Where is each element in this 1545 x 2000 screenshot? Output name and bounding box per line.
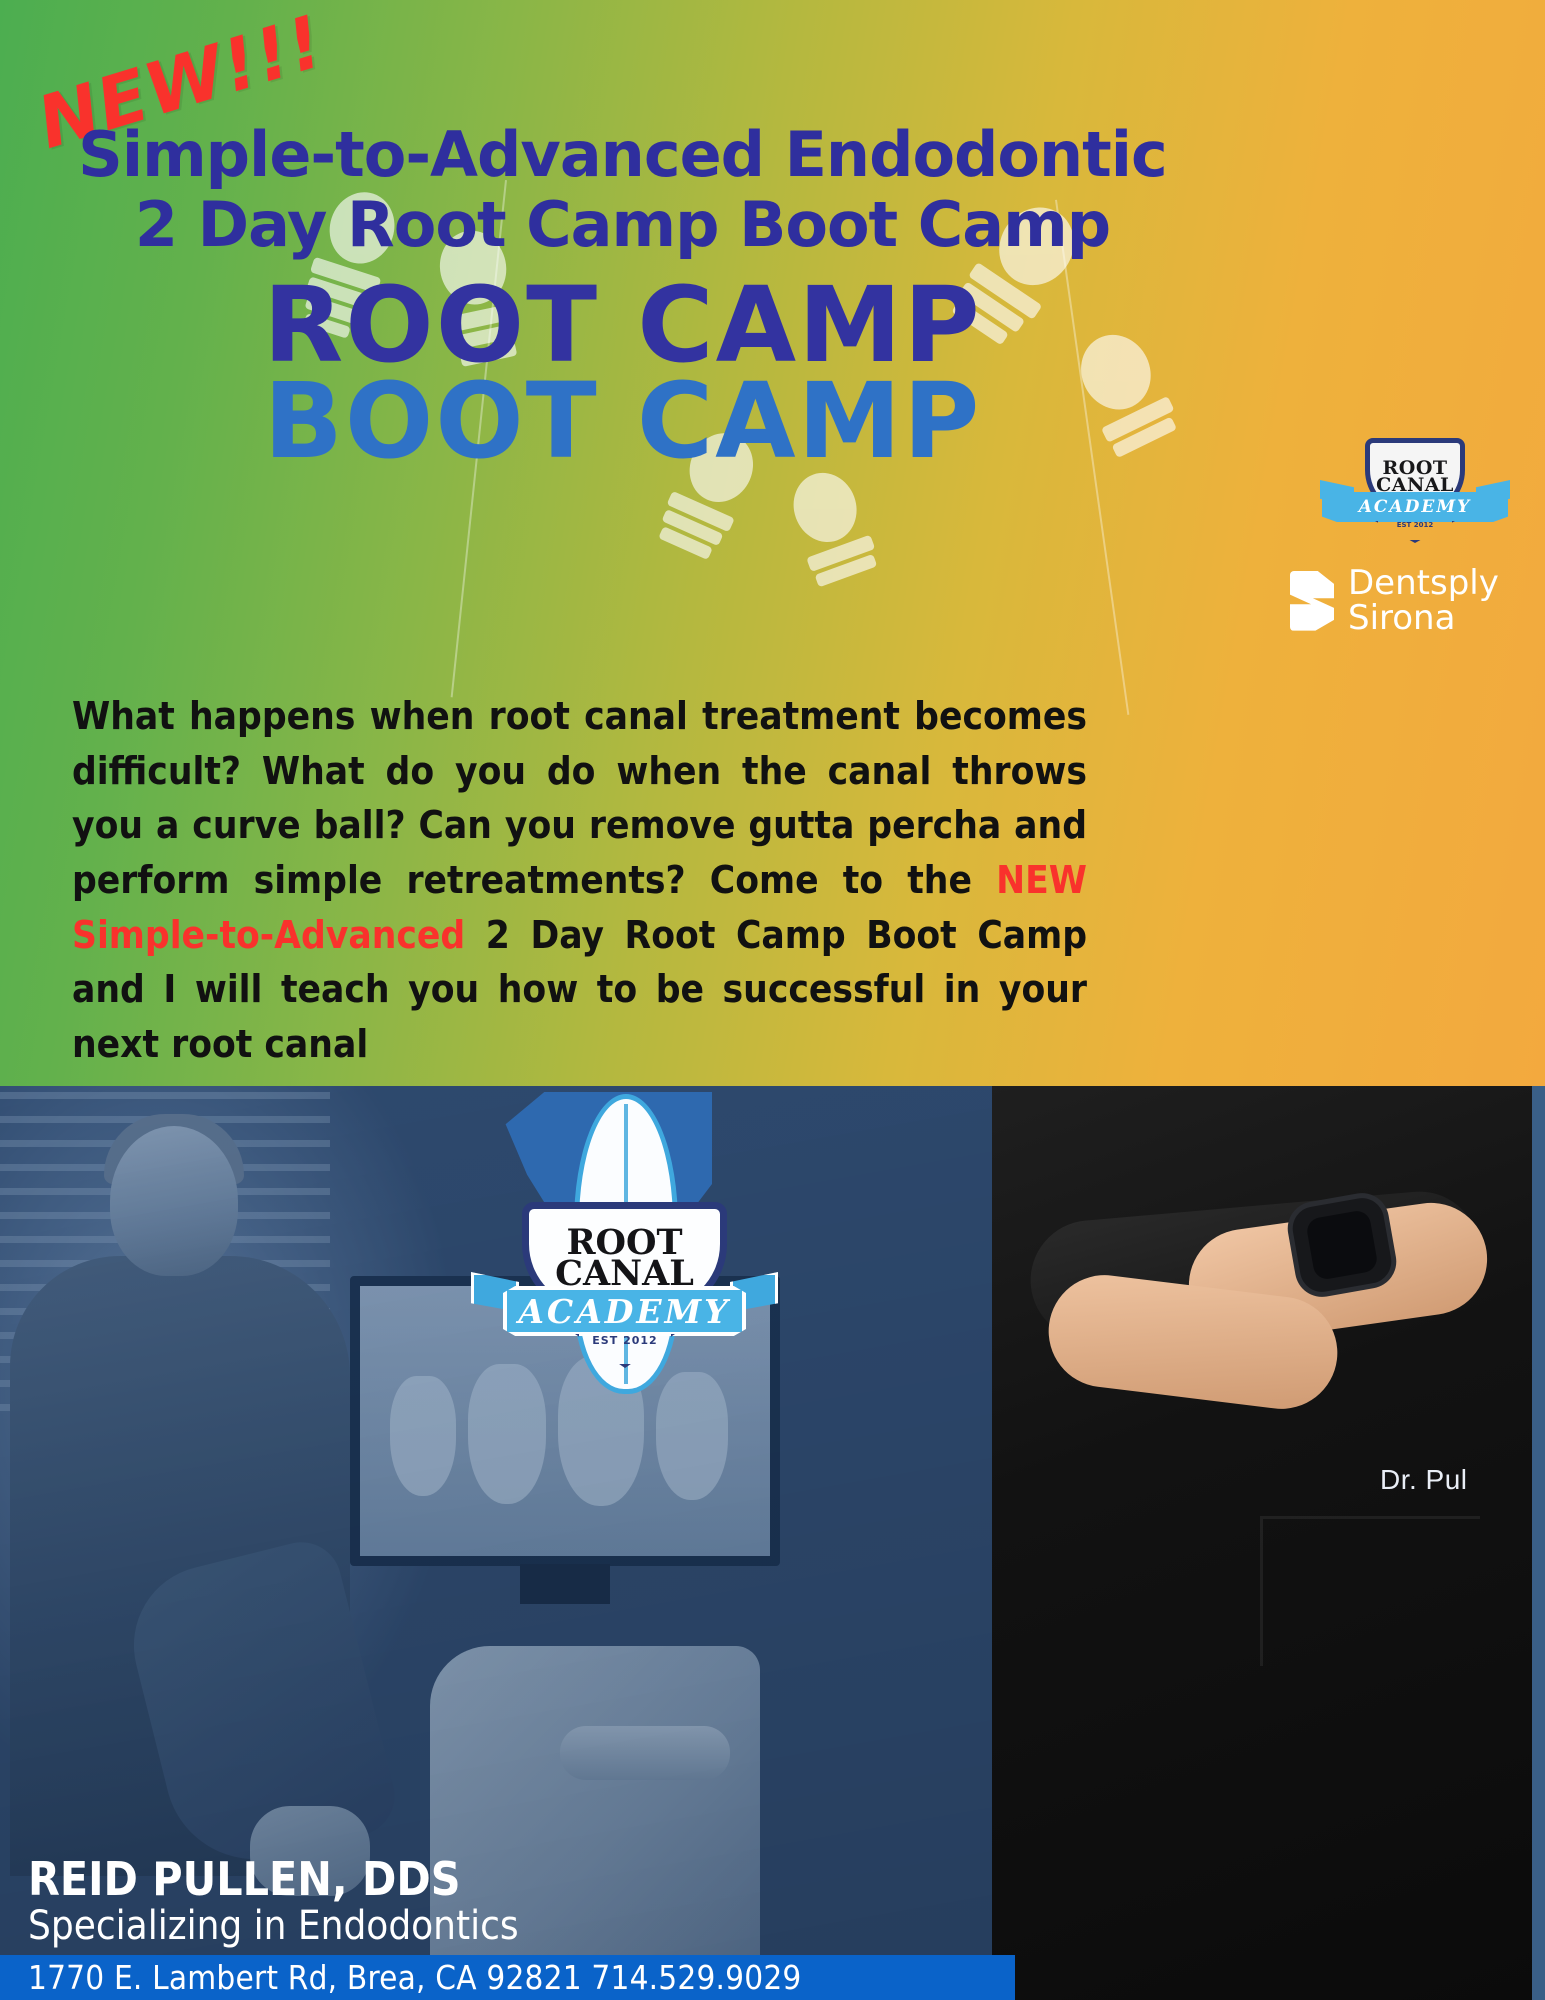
scrub-embroidery-label: Dr. Pul <box>1380 1464 1468 1496</box>
root-canal-academy-logo: ROOT CANAL ACADEMY EST 2012 <box>1320 436 1510 546</box>
bootprint-decor-icon <box>769 458 907 622</box>
root-canal-academy-surfboard-logo: ROOT CANAL ACADEMY EST 2012 <box>487 1086 762 1406</box>
academy-est-label: EST 2012 <box>592 1334 657 1347</box>
doctor-name: REID PULLEN, DDS <box>28 1855 1015 1904</box>
top-gradient-panel: NEW!!! Simple-to-Advanced Endodontic 2 D… <box>0 0 1545 1086</box>
academy-est-chevron-icon: EST 2012 <box>1375 521 1455 543</box>
flyer-page: NEW!!! Simple-to-Advanced Endodontic 2 D… <box>0 0 1545 2000</box>
academy-shield-line-2: CANAL <box>1376 477 1454 494</box>
dentsply-sirona-wordmark: Dentsply Sirona <box>1348 566 1499 635</box>
academy-shield-line-2: CANAL <box>555 1258 694 1290</box>
headline-line-2: 2 Day Root Camp Boot Camp <box>0 190 1245 260</box>
wordmark-boot-camp: BOOT CAMP <box>0 374 1245 470</box>
event-wordmark: ROOT CAMP BOOT CAMP <box>0 278 1245 469</box>
body-paragraph: What happens when root canal treatment b… <box>72 690 1087 1073</box>
contact-info: 1770 E. Lambert Rd, Brea, CA 92821 714.5… <box>28 1958 802 1997</box>
academy-ribbon-label: ACADEMY <box>1322 492 1508 522</box>
scrubs-chest-pocket <box>1260 1516 1480 1666</box>
academy-est-label: EST 2012 <box>1397 521 1434 540</box>
dentsply-line-1: Dentsply <box>1348 566 1499 601</box>
page-title: Simple-to-Advanced Endodontic 2 Day Root… <box>0 120 1245 260</box>
dentsply-s-mark-icon <box>1290 571 1334 631</box>
doctor-specialty: Specializing in Endodontics <box>28 1904 1015 1949</box>
doctor-portrait: Dr. Pul <box>960 1086 1545 2000</box>
dentsply-sirona-logo: Dentsply Sirona <box>1290 566 1499 635</box>
academy-ribbon-label: ACADEMY <box>503 1286 746 1336</box>
headline-line-1: Simple-to-Advanced Endodontic <box>78 118 1167 191</box>
body-part-1: What happens when root canal treatment b… <box>72 694 1087 903</box>
contact-bar: 1770 E. Lambert Rd, Brea, CA 92821 714.5… <box>0 1955 1015 2000</box>
dentsply-line-2: Sirona <box>1348 601 1499 636</box>
smartwatch-icon <box>1289 1195 1395 1296</box>
